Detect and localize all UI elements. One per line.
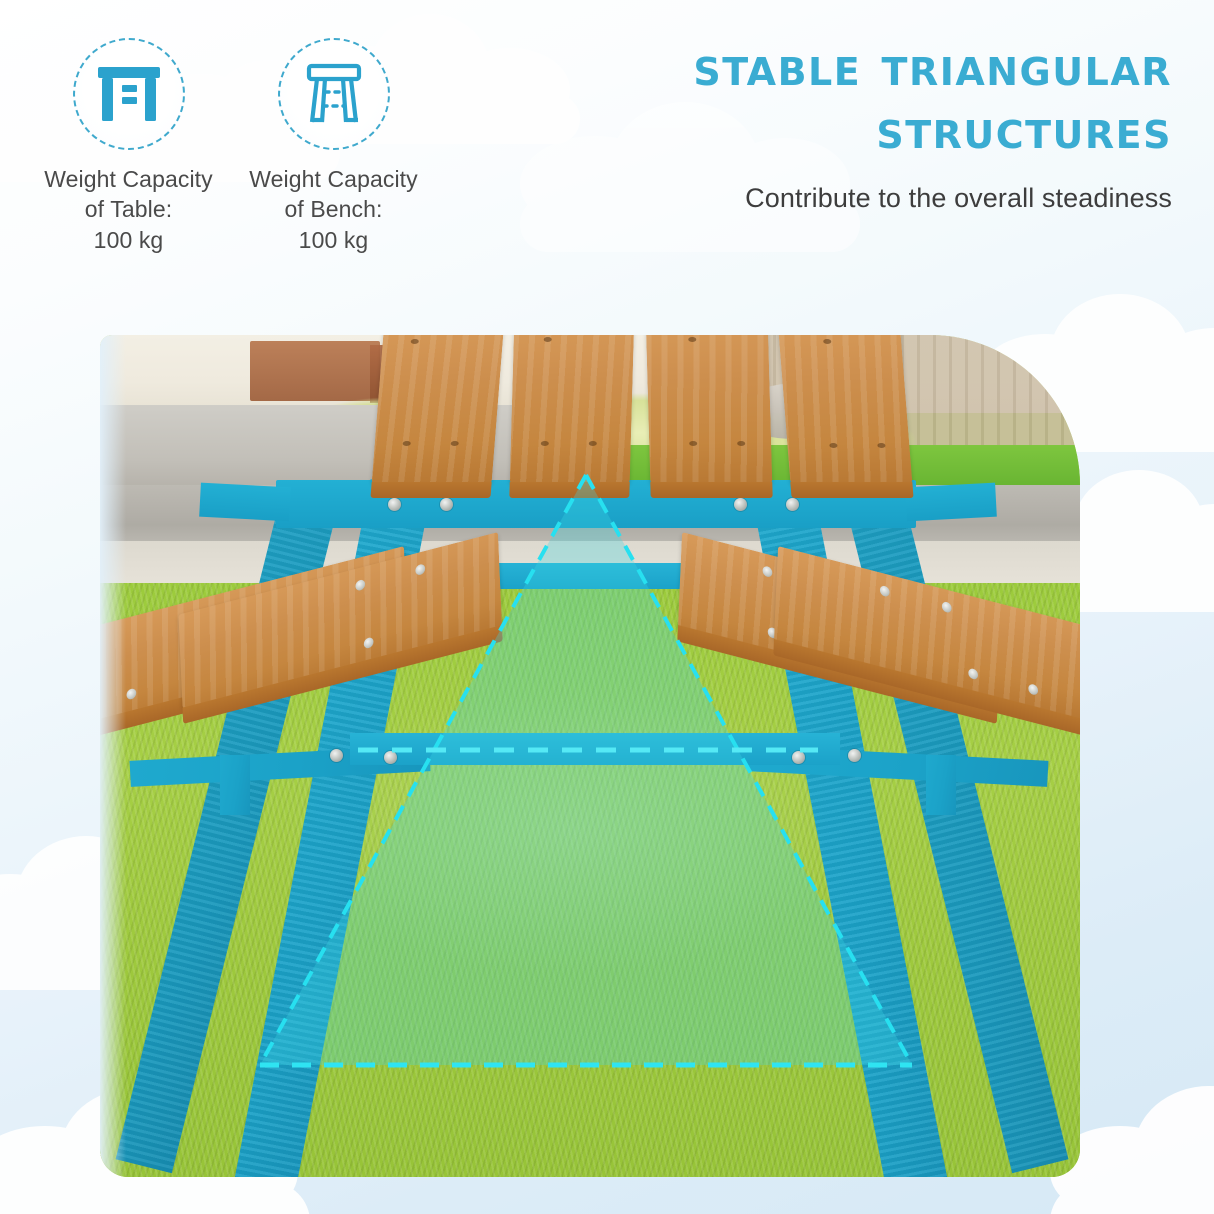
bench-capacity-value: 100 kg bbox=[231, 225, 436, 255]
photo-left-fade bbox=[100, 335, 126, 1177]
table-capacity-value: 100 kg bbox=[26, 225, 231, 255]
headline-line1: Stable Triangular bbox=[432, 36, 1172, 99]
photo-scene bbox=[100, 335, 1080, 1177]
spec-item-table: Weight Capacity of Table: 100 kg bbox=[26, 38, 231, 255]
bench-badge-circle bbox=[278, 38, 390, 150]
infographic-canvas: Weight Capacity of Table: 100 kg bbox=[0, 0, 1214, 1214]
table-capacity-caption: Weight Capacity of Table: 100 kg bbox=[26, 164, 231, 255]
bench-icon bbox=[303, 62, 365, 126]
headline-subtitle: Contribute to the overall steadiness bbox=[432, 183, 1172, 214]
table-badge-circle bbox=[73, 38, 185, 150]
table-caption-line1: Weight Capacity bbox=[26, 164, 231, 194]
table-icon bbox=[96, 63, 162, 125]
headline-line2: Structures bbox=[432, 99, 1172, 162]
bench-caption-line1: Weight Capacity bbox=[231, 164, 436, 194]
page-title: Stable Triangular Structures bbox=[432, 36, 1172, 161]
table-caption-line2: of Table: bbox=[26, 194, 231, 224]
product-photo bbox=[100, 335, 1080, 1177]
spec-badges: Weight Capacity of Table: 100 kg bbox=[26, 38, 446, 255]
triangle-highlight-overlay bbox=[100, 335, 1080, 1177]
bench-caption-line2: of Bench: bbox=[231, 194, 436, 224]
bench-capacity-caption: Weight Capacity of Bench: 100 kg bbox=[231, 164, 436, 255]
triangle-fill bbox=[260, 475, 912, 1065]
spec-item-bench: Weight Capacity of Bench: 100 kg bbox=[231, 38, 436, 255]
headline-block: Stable Triangular Structures Contribute … bbox=[432, 36, 1172, 214]
